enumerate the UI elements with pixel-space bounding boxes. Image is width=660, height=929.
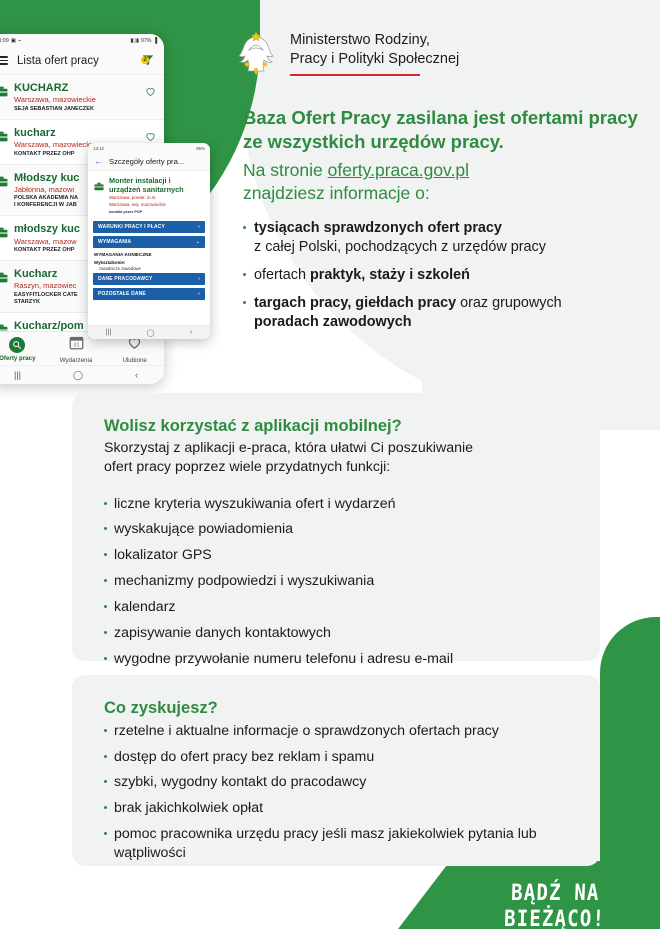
- requirements-item: zasadnicze zawodowe: [99, 266, 204, 271]
- chevron-down-icon: ⌄: [196, 239, 200, 245]
- hero-subline: Na stronie oferty.praca.gov.pl znajdzies…: [243, 159, 643, 205]
- offer-title: KUCHARZ: [14, 82, 156, 94]
- battery-level: 97%: [141, 38, 151, 44]
- svg-text:31: 31: [73, 342, 79, 348]
- card-mobile-app-list: liczne kryteria wyszukiwania ofert i wyd…: [104, 495, 570, 669]
- offer-location: Warszawa, mazowieckie: [14, 95, 156, 104]
- offer-header: Monter instalacji i urządzeń sanitarnych…: [88, 171, 210, 219]
- list-item: pomoc pracownika urzędu pracy jeśli masz…: [104, 825, 554, 863]
- image-icon: ▣: [11, 38, 16, 44]
- oferty-praca-gov-pl-link[interactable]: oferty.praca.gov.pl: [328, 160, 469, 180]
- phone-status-bar: 13:09 ▣ ⌁ ▮▯▮ 97% ▐: [0, 34, 164, 47]
- section-label: WYMAGANIA: [98, 239, 131, 245]
- card-benefits-list: rzetelne i aktualne informacje o sprawdz…: [104, 722, 570, 863]
- back-icon[interactable]: ‹: [190, 329, 192, 336]
- banner-text: BĄDŹ NA BIEŻĄCO!: [454, 880, 656, 929]
- phone-detail-system-bar[interactable]: ||| ◯ ‹: [88, 325, 210, 339]
- nav-label: Oferty pracy: [0, 355, 36, 362]
- status-time: 13:12: [93, 146, 104, 151]
- recents-icon[interactable]: |||: [106, 329, 111, 336]
- hero-bullet-3: targach pracy, giełdach pracy oraz grupo…: [243, 294, 643, 332]
- list-item: mechanizmy podpowiedzi i wyszukiwania: [104, 572, 570, 591]
- card-mobile-app: Wolisz korzystać z aplikacji mobilnej? S…: [72, 393, 600, 661]
- section-wymagania[interactable]: WYMAGANIA ⌄: [93, 236, 205, 248]
- battery-level: 96%: [196, 146, 205, 151]
- hero-bullet-2-pre: ofertach: [254, 267, 310, 283]
- briefcase-icon: [0, 174, 8, 185]
- filter-badge: 2: [141, 56, 149, 64]
- chevron-right-icon: ›: [198, 291, 200, 297]
- list-item: zapisywanie danych kontaktowych: [104, 624, 570, 643]
- nav-label: Ulubione: [122, 357, 146, 364]
- briefcase-icon: [0, 270, 8, 281]
- offer-meta-1: Warszawa, powiat: m.st.: [109, 195, 204, 201]
- phone-app-title: Lista ofert pracy: [17, 55, 99, 67]
- offer-company: SEJA SEBASTIAN JANECZEK: [14, 106, 156, 113]
- hero-bullet-1-strong: tysiącach sprawdzonych ofert pracy: [254, 220, 502, 236]
- section-dane-pracodawcy[interactable]: DANE PRACODAWCY ›: [93, 273, 205, 285]
- favorite-heart-icon[interactable]: [145, 84, 156, 95]
- polish-eagle-emblem-icon: [232, 28, 280, 80]
- home-icon[interactable]: ◯: [147, 329, 155, 337]
- hero-bullet-3-mid: oraz grupowych: [456, 295, 562, 311]
- ministry-logo-text: Ministerstwo Rodziny, Pracy i Polityki S…: [290, 28, 459, 77]
- hero-bullet-2-strong: praktyk, staży i szkoleń: [310, 267, 470, 283]
- offer-title: kucharz: [14, 127, 156, 139]
- hero-subline-prefix: Na stronie: [243, 160, 328, 180]
- section-label: WARUNKI PRACY I PŁACY: [98, 224, 165, 230]
- card-benefits: Co zyskujesz? rzetelne i aktualne inform…: [72, 675, 600, 866]
- briefcase-icon: [0, 225, 8, 236]
- briefcase-icon: [94, 178, 104, 187]
- briefcase-icon: [0, 129, 8, 140]
- section-pozostale-dane[interactable]: POZOSTAŁE DANE ›: [93, 288, 205, 300]
- requirements-subheading: Wykształcenie:: [94, 260, 204, 265]
- offer-meta-3: kontakt przez PUP: [109, 210, 204, 214]
- back-icon[interactable]: ‹: [135, 370, 138, 380]
- hero-section: Baza Ofert Pracy zasilana jest ofertami …: [243, 106, 643, 342]
- offer-meta-2: Warszawa, woj. mazowieckie: [109, 202, 204, 208]
- phone-detail-app-bar: ← Szczegóły oferty pra...: [88, 153, 210, 171]
- phone-mockup-offer-detail: 13:12 96% ← Szczegóły oferty pra... Mont…: [88, 143, 210, 339]
- filter-icon[interactable]: 2: [141, 53, 155, 67]
- hero-bullet-1: tysiącach sprawdzonych ofert pracy z cał…: [243, 219, 643, 257]
- hero-bullet-3-strong: targach pracy, giełdach pracy: [254, 295, 456, 311]
- calendar-icon: 31: [69, 335, 84, 355]
- offer-header-body: Monter instalacji i urządzeń sanitarnych…: [109, 177, 204, 214]
- phone-system-bar[interactable]: ||| ◯ ‹: [0, 365, 164, 384]
- page-title: Baza Ofert Pracy zasilana jest ofertami …: [243, 106, 643, 153]
- battery-icon: ▐: [153, 38, 157, 44]
- signal-icon: ▮▯▮: [130, 38, 138, 44]
- menu-icon[interactable]: [0, 56, 8, 65]
- list-item: szybki, wygodny kontakt do pracodawcy: [104, 773, 570, 792]
- ministry-name-line2: Pracy i Polityki Społecznej: [290, 50, 459, 69]
- search-icon: [9, 337, 25, 353]
- recents-icon[interactable]: |||: [14, 370, 21, 380]
- nav-label: Wydarzenia: [60, 357, 93, 364]
- ministry-name-line1: Ministerstwo Rodziny,: [290, 31, 459, 50]
- list-item[interactable]: KUCHARZ Warszawa, mazowieckie SEJA SEBAS…: [0, 75, 164, 120]
- list-item: liczne kryteria wyszukiwania ofert i wyd…: [104, 495, 570, 514]
- list-item: kalendarz: [104, 598, 570, 617]
- card-mobile-app-lead-1: Skorzystaj z aplikacji e-praca, która uł…: [104, 440, 473, 456]
- home-icon[interactable]: ◯: [73, 370, 83, 381]
- list-item: rzetelne i aktualne informacje o sprawdz…: [104, 722, 570, 741]
- status-left: 13:09 ▣ ⌁: [0, 38, 21, 44]
- card-mobile-app-lead-2: ofert pracy poprzez wiele przydatnych fu…: [104, 459, 390, 475]
- status-right: ▮▯▮ 97% ▐: [130, 38, 157, 44]
- list-item: wyskakujące powiadomienia: [104, 520, 570, 539]
- card-mobile-app-lead: Skorzystaj z aplikacji e-praca, która uł…: [104, 439, 570, 478]
- list-item: wygodne przywołanie numeru telefonu i ad…: [104, 650, 570, 669]
- status-time: 13:09: [0, 38, 9, 44]
- requirements-heading: WYMAGANIA KONIECZNE: [94, 252, 204, 257]
- section-warunki-pracy[interactable]: WARUNKI PRACY I PŁACY ›: [93, 221, 205, 233]
- hero-bullet-2: ofertach praktyk, staży i szkoleń: [243, 266, 643, 285]
- hero-bullet-list: tysiącach sprawdzonych ofert pracy z cał…: [243, 219, 643, 333]
- offer-body: KUCHARZ Warszawa, mazowieckie SEJA SEBAS…: [14, 82, 156, 113]
- phone-detail-title: Szczegóły oferty pra...: [109, 157, 184, 166]
- section-label: POZOSTAŁE DANE: [98, 291, 146, 297]
- nav-item-offers[interactable]: Oferty pracy: [0, 332, 47, 366]
- list-item: dostęp do ofert pracy bez reklam i spamu: [104, 748, 570, 767]
- ministry-logo: Ministerstwo Rodziny, Pracy i Polityki S…: [232, 28, 459, 80]
- arrow-left-icon[interactable]: ←: [94, 157, 103, 166]
- logo-white-rule: [290, 76, 420, 77]
- wifi-icon: ⌁: [18, 38, 21, 44]
- list-item: lokalizator GPS: [104, 546, 570, 565]
- favorite-heart-icon[interactable]: [145, 129, 156, 140]
- hero-bullet-3-strong2: poradach zawodowych: [254, 314, 412, 330]
- card-mobile-app-title: Wolisz korzystać z aplikacji mobilnej?: [104, 416, 570, 437]
- section-label: DANE PRACODAWCY: [98, 276, 152, 282]
- card-benefits-title: Co zyskujesz?: [104, 698, 570, 719]
- phone-detail-status-bar: 13:12 96%: [88, 143, 210, 153]
- phone-app-bar: Lista ofert pracy 2: [0, 47, 164, 75]
- chevron-right-icon: ›: [198, 224, 200, 230]
- offer-title: Monter instalacji i urządzeń sanitarnych: [109, 177, 204, 194]
- poster-root: BĄDŹ NA BIEŻĄCO! 13:09 ▣ ⌁ ▮▯▮ 97% ▐ Lis…: [0, 0, 660, 929]
- briefcase-icon: [0, 84, 8, 95]
- card-mobile-app-inner: Wolisz korzystać z aplikacji mobilnej? S…: [72, 393, 600, 669]
- chevron-right-icon: ›: [198, 276, 200, 282]
- card-benefits-inner: Co zyskujesz? rzetelne i aktualne inform…: [72, 675, 600, 863]
- hero-bullet-1-rest: z całej Polski, pochodzących z urzędów p…: [254, 239, 546, 255]
- list-item: brak jakichkolwiek opłat: [104, 799, 570, 818]
- hero-subline-suffix: znajdziesz informacje o:: [243, 183, 430, 203]
